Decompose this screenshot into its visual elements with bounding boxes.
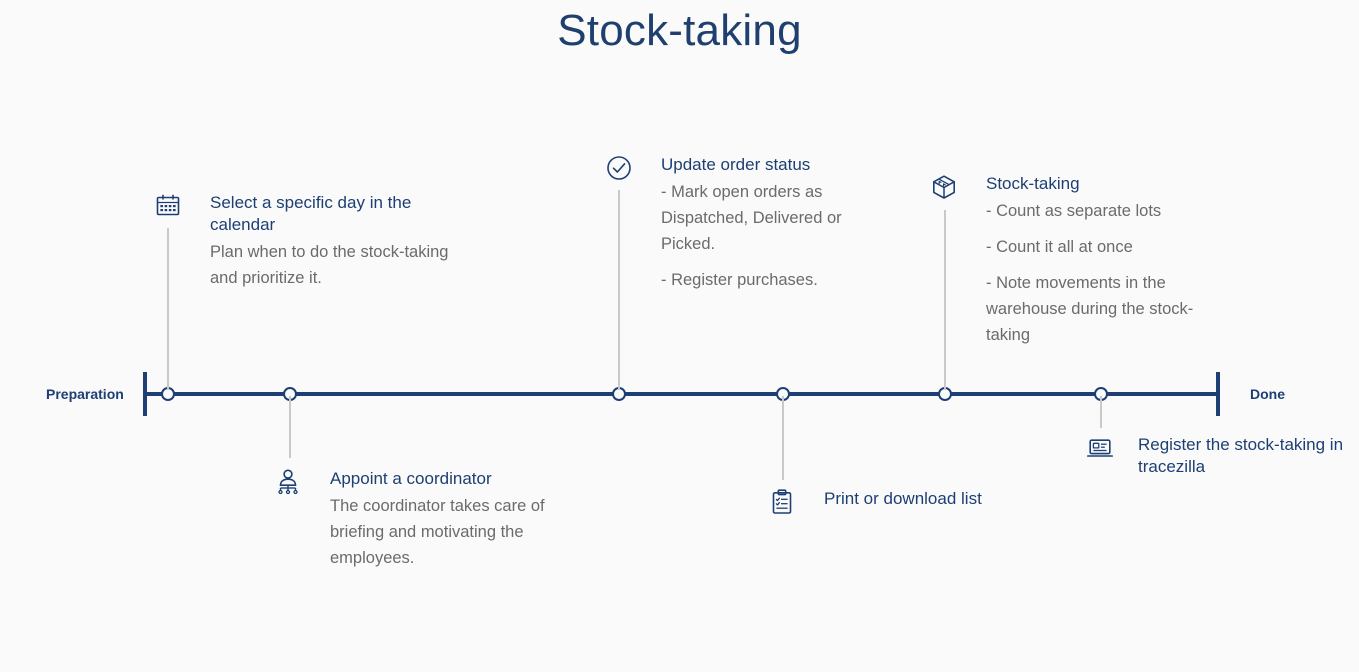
timeline-item-update-order-status[interactable]: Update order status - Mark open orders a… bbox=[605, 154, 895, 293]
timeline-axis bbox=[145, 392, 1219, 396]
item-body: Select a specific day in the calendar Pl… bbox=[210, 192, 454, 291]
timeline-item-stock-taking[interactable]: Stock-taking - Count as separate lots - … bbox=[930, 173, 1210, 348]
item-heading: Appoint a coordinator bbox=[330, 468, 574, 490]
item-body: Stock-taking - Count as separate lots - … bbox=[986, 173, 1210, 348]
item-body: Update order status - Mark open orders a… bbox=[661, 154, 895, 293]
item-line: The coordinator takes care of briefing a… bbox=[330, 493, 574, 571]
item-heading: Register the stock-taking in tracezilla bbox=[1138, 434, 1359, 478]
item-heading: Print or download list bbox=[824, 488, 1048, 510]
timeline-item-select-day[interactable]: Select a specific day in the calendar Pl… bbox=[154, 192, 454, 291]
package-box-icon bbox=[930, 173, 958, 201]
timeline-start-cap bbox=[143, 372, 147, 416]
timeline-item-print-download-list[interactable]: Print or download list bbox=[768, 488, 1048, 513]
page-title: Stock-taking bbox=[0, 6, 1359, 56]
item-line: Plan when to do the stock-taking and pri… bbox=[210, 239, 454, 291]
coordinator-icon bbox=[274, 468, 302, 496]
laptop-icon bbox=[1086, 434, 1114, 462]
item-line: - Note movements in the warehouse during… bbox=[986, 270, 1210, 348]
timeline-item-appoint-coordinator[interactable]: Appoint a coordinator The coordinator ta… bbox=[274, 468, 574, 571]
timeline-stem bbox=[1100, 396, 1102, 428]
clipboard-list-icon bbox=[768, 488, 796, 516]
item-heading: Update order status bbox=[661, 154, 895, 176]
item-line: - Count as separate lots bbox=[986, 198, 1210, 224]
timeline-end-cap bbox=[1216, 372, 1220, 416]
item-heading: Stock-taking bbox=[986, 173, 1210, 195]
timeline-stem bbox=[782, 396, 784, 480]
item-body: Register the stock-taking in tracezilla bbox=[1138, 434, 1359, 478]
item-heading: Select a specific day in the calendar bbox=[210, 192, 454, 236]
timeline-end-label: Done bbox=[1250, 386, 1285, 402]
item-body: Print or download list bbox=[824, 488, 1048, 510]
item-line: - Count it all at once bbox=[986, 234, 1210, 260]
item-body: Appoint a coordinator The coordinator ta… bbox=[330, 468, 574, 571]
calendar-icon bbox=[154, 192, 182, 220]
item-line: - Mark open orders as Dispatched, Delive… bbox=[661, 179, 895, 257]
timeline-stem bbox=[289, 396, 291, 458]
check-circle-icon bbox=[605, 154, 633, 182]
timeline-item-register-tracezilla[interactable]: Register the stock-taking in tracezilla bbox=[1086, 434, 1359, 481]
timeline-start-label: Preparation bbox=[46, 386, 124, 402]
item-line: - Register purchases. bbox=[661, 267, 895, 293]
